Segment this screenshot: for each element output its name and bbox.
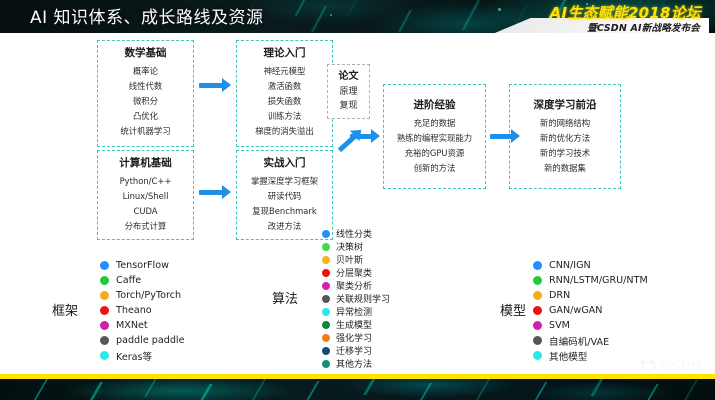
legend-dot-icon [322, 360, 330, 368]
legend-item-label: SVM [549, 320, 570, 331]
box-item: 神经元模型 [237, 64, 332, 79]
legend-dot-icon [322, 321, 330, 329]
legend-item[interactable]: GAN/wGAN [533, 303, 648, 318]
legend-item-label: 其他模型 [549, 349, 587, 363]
box-title: 进阶经验 [384, 98, 485, 113]
footer-image-strip [0, 379, 715, 400]
box-item: 统计机器学习 [98, 124, 193, 139]
box-item: 充裕的GPU资源 [384, 146, 485, 161]
legend-dot-icon [100, 336, 109, 345]
legend-item[interactable]: 生成模型 [322, 318, 390, 331]
box-item: 复现Benchmark [237, 204, 332, 219]
legend-item-label: 其他方法 [336, 357, 372, 370]
box-item: 熟练的编程实现能力 [384, 131, 485, 146]
slide-root: AI 知识体系、成长路线及资源 AI生态赋能2018论坛 暨CSDN AI新战略… [0, 0, 715, 400]
legend-list-algorithms: 线性分类 决策树 贝叶斯 分层聚类 聚类分析 [322, 227, 390, 370]
legend-item-label: Torch/PyTorch [116, 290, 181, 301]
box-item: 新的学习技术 [510, 146, 620, 161]
legend-item[interactable]: Torch/PyTorch [100, 288, 184, 303]
box-title: 深度学习前沿 [510, 98, 620, 113]
page-title: AI 知识体系、成长路线及资源 [30, 3, 264, 28]
arrow-advanced-to-frontier [490, 129, 520, 143]
box-item: 研读代码 [237, 189, 332, 204]
legend-item-label: 线性分类 [336, 227, 372, 240]
legend-item-label: CNN/IGN [549, 260, 591, 271]
legend-item[interactable]: 聚类分析 [322, 279, 390, 292]
legend-item[interactable]: DRN [533, 288, 648, 303]
legend-label-models: 模型 [500, 300, 526, 319]
forum-logo: AI生态赋能2018论坛 暨CSDN AI新战略发布会 [454, 1, 709, 33]
legend-item[interactable]: Caffe [100, 273, 184, 288]
legend-item-label: 聚类分析 [336, 279, 372, 292]
box-item: 分布式计算 [98, 219, 193, 234]
legend-item[interactable]: SVM [533, 318, 648, 333]
legend-dot-icon [322, 347, 330, 355]
arrow-math-to-theory [199, 78, 231, 92]
legend-label-frameworks: 框架 [52, 300, 78, 319]
legend-dot-icon [100, 306, 109, 315]
legend-item-label: Keras等 [116, 349, 152, 363]
slide-body: 数学基础 概率论 线性代数 微积分 凸优化 统计机器学习 计算机基础 Pytho… [0, 33, 715, 374]
box-title: 论文 [328, 69, 369, 84]
box-item: 微积分 [98, 94, 193, 109]
logo-sub-text: 暨CSDN AI新战略发布会 [587, 20, 700, 33]
legend-item[interactable]: CNN/IGN [533, 258, 648, 273]
arrow-cs-to-practice [199, 185, 231, 199]
box-item: 原理 [328, 85, 369, 99]
arrow-paper-to-advanced [350, 129, 380, 143]
box-title: 实战入门 [237, 156, 332, 171]
legend-item-label: 自编码机/VAE [549, 334, 609, 348]
legend-item-label: 贝叶斯 [336, 253, 363, 266]
legend-dot-icon [322, 282, 330, 290]
box-theory-intro: 理论入门 神经元模型 激活函数 损失函数 训练方法 梯度的消失溢出 [236, 40, 333, 147]
box-item: 复现 [328, 99, 369, 113]
box-item: 创新的方法 [384, 161, 485, 176]
legend-list-frameworks: TensorFlow Caffe Torch/PyTorch Theano MX… [100, 258, 184, 363]
box-cs-foundation: 计算机基础 Python/C++ Linux/Shell CUDA 分布式计算 [97, 150, 194, 240]
legend-dot-icon [322, 230, 330, 238]
legend-item[interactable]: 迁移学习 [322, 344, 390, 357]
legend-item-label: RNN/LSTM/GRU/NTM [549, 275, 648, 286]
box-paper: 论文 原理 复现 [327, 64, 370, 119]
csdn-brand-text: CSDN [660, 358, 702, 373]
box-item: 充足的数据 [384, 116, 485, 131]
legend-item[interactable]: 其他模型 [533, 348, 648, 363]
box-item: 训练方法 [237, 109, 332, 124]
legend-item[interactable]: 异常检测 [322, 305, 390, 318]
box-title: 计算机基础 [98, 156, 193, 171]
box-item: Linux/Shell [98, 189, 193, 204]
csdn-watermark: CSDN [639, 358, 702, 373]
legend-item-label: Theano [116, 305, 152, 316]
legend-item-label: TensorFlow [116, 260, 169, 271]
legend-item[interactable]: TensorFlow [100, 258, 184, 273]
box-title: 理论入门 [237, 46, 332, 61]
legend-item[interactable]: 贝叶斯 [322, 253, 390, 266]
legend-item-label: 生成模型 [336, 318, 372, 331]
legend-dot-icon [322, 256, 330, 264]
legend-item-label: GAN/wGAN [549, 305, 602, 316]
legend-dot-icon [533, 276, 542, 285]
legend-dot-icon [100, 261, 109, 270]
box-title: 数学基础 [98, 46, 193, 61]
legend-dot-icon [322, 334, 330, 342]
csdn-logo-icon [639, 359, 656, 372]
legend-item-label: 决策树 [336, 240, 363, 253]
box-dl-frontier: 深度学习前沿 新的网络结构 新的优化方法 新的学习技术 新的数据集 [509, 84, 621, 189]
legend-dot-icon [533, 321, 542, 330]
legend-label-algorithms: 算法 [272, 288, 298, 307]
legend-item[interactable]: Theano [100, 303, 184, 318]
legend-item-label: paddle paddle [116, 335, 184, 346]
box-item: 凸优化 [98, 109, 193, 124]
legend-item-label: DRN [549, 290, 570, 301]
legend-dot-icon [322, 308, 330, 316]
legend-dot-icon [322, 295, 330, 303]
legend-dot-icon [100, 351, 109, 360]
box-item: 新的数据集 [510, 161, 620, 176]
legend-algorithms: 算法 线性分类 决策树 贝叶斯 分层聚类 [272, 226, 432, 381]
legend-item[interactable]: 决策树 [322, 240, 390, 253]
legend-item-label: 强化学习 [336, 331, 372, 344]
box-item: Python/C++ [98, 174, 193, 189]
legend-dot-icon [100, 291, 109, 300]
box-item: 新的网络结构 [510, 116, 620, 131]
box-item: 梯度的消失溢出 [237, 124, 332, 139]
legend-models: 模型 CNN/IGN RNN/LSTM/GRU/NTM DRN GAN/wGAN [500, 254, 700, 374]
legend-dot-icon [533, 291, 542, 300]
legend-dot-icon [533, 261, 542, 270]
legend-item-label: 分层聚类 [336, 266, 372, 279]
legend-item-label: 迁移学习 [336, 344, 372, 357]
legend-item[interactable]: 其他方法 [322, 357, 390, 370]
legend-dot-icon [100, 321, 109, 330]
legend-frameworks: 框架 TensorFlow Caffe Torch/PyTorch Theano [52, 254, 222, 374]
legend-item-label: 异常检测 [336, 305, 372, 318]
legend-item[interactable]: MXNet [100, 318, 184, 333]
legend-dot-icon [533, 336, 542, 345]
legend-list-models: CNN/IGN RNN/LSTM/GRU/NTM DRN GAN/wGAN SV… [533, 258, 648, 363]
legend-item[interactable]: 强化学习 [322, 331, 390, 344]
legend-item[interactable]: 自编码机/VAE [533, 333, 648, 348]
box-item: 新的优化方法 [510, 131, 620, 146]
legend-item[interactable]: 线性分类 [322, 227, 390, 240]
legend-item[interactable]: paddle paddle [100, 333, 184, 348]
legend-item[interactable]: 关联规则学习 [322, 292, 390, 305]
legend-item[interactable]: 分层聚类 [322, 266, 390, 279]
legend-item[interactable]: RNN/LSTM/GRU/NTM [533, 273, 648, 288]
box-item: CUDA [98, 204, 193, 219]
legend-item-label: 关联规则学习 [336, 292, 390, 305]
box-item: 激活函数 [237, 79, 332, 94]
box-item: 损失函数 [237, 94, 332, 109]
legend-dot-icon [322, 269, 330, 277]
legend-item[interactable]: Keras等 [100, 348, 184, 363]
legend-dot-icon [322, 243, 330, 251]
box-advanced-experience: 进阶经验 充足的数据 熟练的编程实现能力 充裕的GPU资源 创新的方法 [383, 84, 486, 189]
legend-item-label: MXNet [116, 320, 148, 331]
box-math-foundation: 数学基础 概率论 线性代数 微积分 凸优化 统计机器学习 [97, 40, 194, 147]
box-item: 掌握深度学习框架 [237, 174, 332, 189]
legend-item-label: Caffe [116, 275, 141, 286]
legend-dot-icon [533, 306, 542, 315]
legend-dot-icon [100, 276, 109, 285]
box-item: 线性代数 [98, 79, 193, 94]
box-item: 概率论 [98, 64, 193, 79]
legend-dot-icon [533, 351, 542, 360]
slide-header: AI 知识体系、成长路线及资源 AI生态赋能2018论坛 暨CSDN AI新战略… [0, 0, 715, 33]
